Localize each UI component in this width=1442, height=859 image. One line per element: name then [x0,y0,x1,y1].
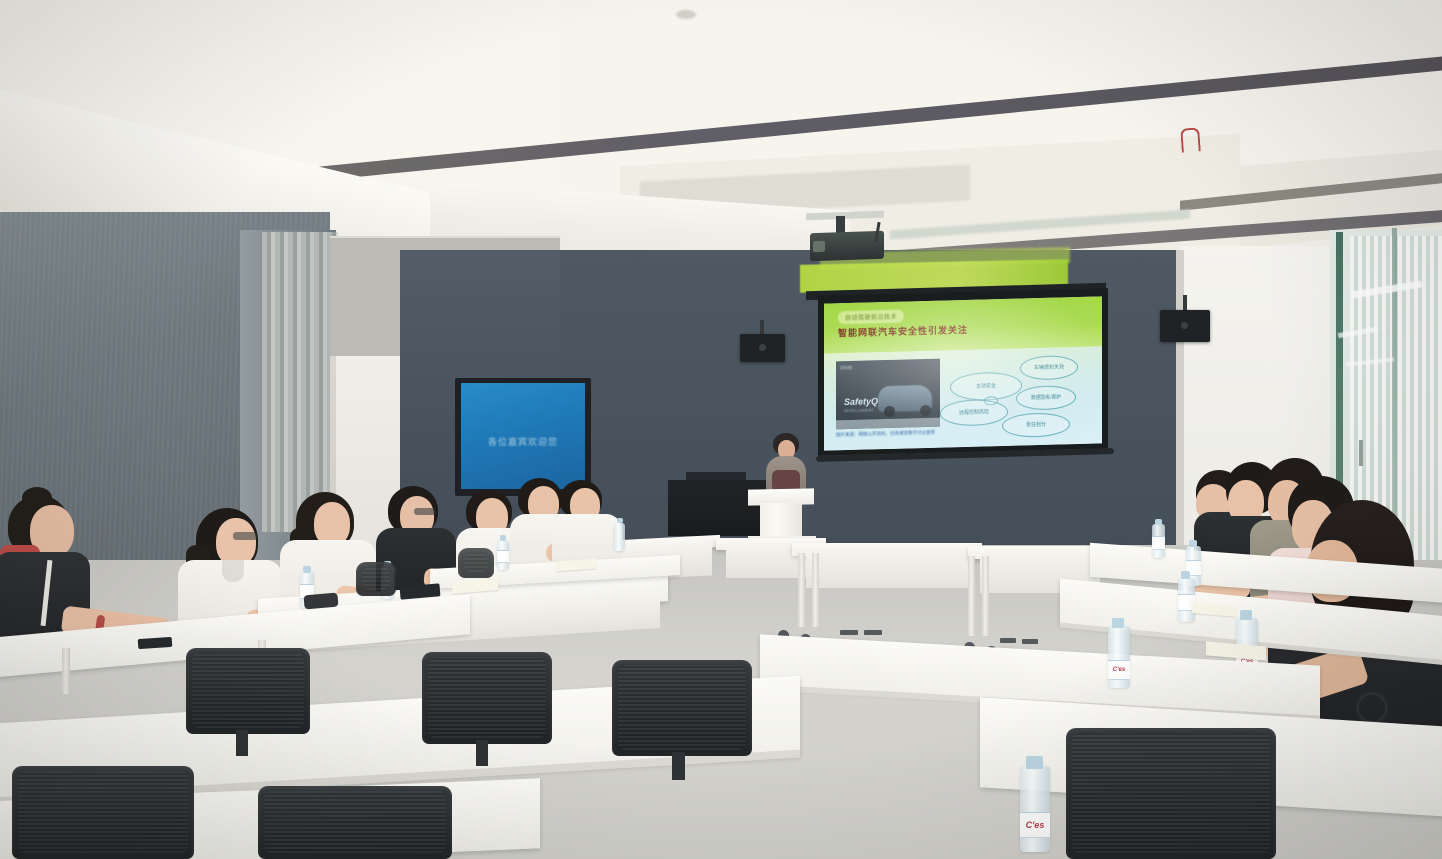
slide-photo-wheel-left [884,406,895,417]
bottle-cap-4 [617,518,623,523]
conference-room-photo: 各位嘉宾欢迎您 自动驾驶前沿技术 智能网联汽车安全性引发关注 资料图 Safet… [0,0,1442,859]
water-bottle-10[interactable] [1020,766,1050,852]
slide-photo-logo: SafetyQ [844,396,878,407]
table-leg-3 [968,556,975,636]
bottle-cap-1 [303,566,311,573]
ceiling-sprinkler-pipe [1180,127,1201,152]
chair-7[interactable] [356,562,396,596]
slide-photo-wheel-right [920,405,931,416]
attendee-glasses [233,532,257,540]
bottle-cap-3 [500,535,506,541]
table-leg-4 [982,556,989,636]
bottle-label-5 [1152,536,1165,550]
ceiling-projector [810,231,884,262]
attendee-collar [222,560,244,582]
chair-1-post [236,730,248,756]
chair-4[interactable] [12,766,194,859]
slide-body: 资料图 SafetyQ INTELLIGENT 图片来源：网络公开资料，仅供课堂… [824,346,1102,450]
slide-photo-subtitle: INTELLIGENT [844,407,874,413]
speaker-cone-icon [759,344,766,351]
chair-5[interactable] [258,786,452,859]
slide-bubble-4: 远程控制风险 [940,399,1008,427]
bottle-label-3 [497,550,509,563]
bottle-cap-8 [1240,610,1252,620]
chair-1[interactable] [186,648,310,734]
bottle-cap-7 [1181,571,1190,579]
wall-speaker-right [1160,310,1210,342]
attendee-glasses [414,508,436,515]
chair-2[interactable] [422,652,552,744]
table-leg-5 [62,648,70,694]
floor-outlet-1 [840,630,858,635]
bottle-cap-9 [1112,618,1124,628]
water-bottle-4[interactable] [614,523,625,551]
shirt-graphic [1356,692,1388,724]
bottle-label-9: C'es [1108,660,1130,680]
attendee-head [216,518,256,566]
slide-tag: 自动驾驶前沿技术 [838,310,904,325]
table-leg-2 [812,553,819,627]
table-leg-1 [798,553,805,627]
eyeglasses-case[interactable] [303,593,338,610]
chair-3[interactable] [612,660,752,756]
side-display-text: 各位嘉宾欢迎您 [461,435,585,448]
bottle-cap-5 [1155,519,1162,525]
slide-photo: 资料图 SafetyQ INTELLIGENT [836,359,940,430]
bottle-cap-10 [1026,756,1043,769]
slide-bubble-5: 责任划分 [1002,412,1070,438]
slide-bubble-1: 车辆感知失效 [1020,355,1078,381]
chair-3-post [672,752,685,780]
speaker-cone-icon [1181,322,1188,329]
projection-screen[interactable]: 自动驾驶前沿技术 智能网联汽车安全性引发关注 资料图 SafetyQ INTEL… [824,296,1102,450]
chair-6[interactable] [1066,728,1276,859]
wall-blind-panel [262,232,338,532]
bottle-cap-6 [1189,540,1197,547]
table-center-1-panel [806,554,972,588]
slide-photo-corner-label: 资料图 [840,365,852,371]
glass-door-handle[interactable] [1359,440,1363,466]
floor-outlet-4 [1022,639,1038,644]
ceiling-vent [676,10,696,19]
chair-8[interactable] [458,548,494,578]
chair-2-post [476,740,488,766]
wall-speaker-left [740,334,785,362]
projector-lens-icon [813,241,825,252]
slide-caption: 图片来源：网络公开资料，仅供课堂教学讨论使用 [836,429,946,438]
bottle-label-10: C'es [1020,812,1050,838]
slide-photo-band [836,418,940,430]
floor-outlet-2 [864,630,882,635]
slide-bubble-3: 数据隐私保护 [1016,385,1076,411]
floor-outlet-3 [1000,638,1016,643]
